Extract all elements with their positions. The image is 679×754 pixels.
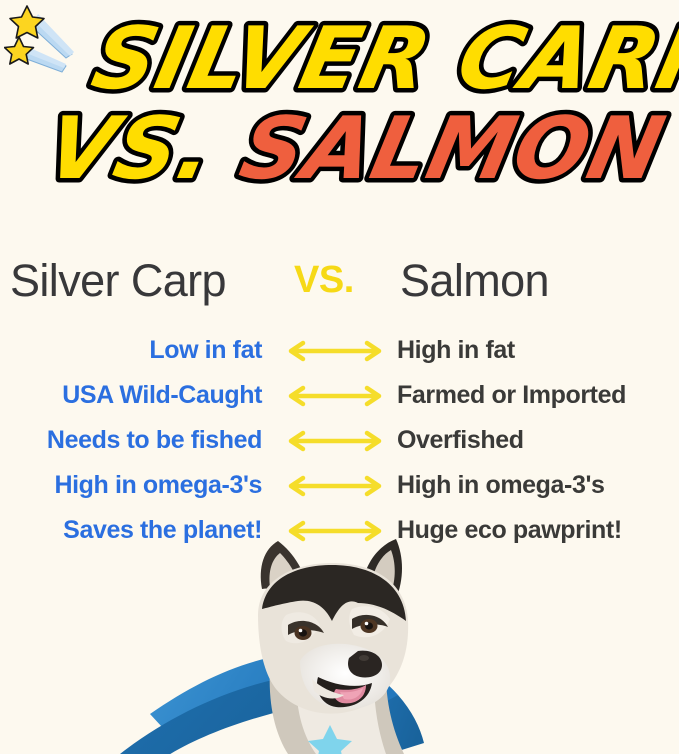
comic-title: SILVER CARP VS. SALMON [0,0,679,215]
row-right-text: High in omega-3's [397,469,605,501]
double-headed-arrow-icon [285,473,385,499]
header-right-label: Salmon [400,255,549,307]
title-salmon: SALMON [232,98,673,199]
comparison-row: USA Wild-Caught Farmed or Imported [0,379,679,413]
double-headed-arrow-art [285,428,385,454]
husky-mask [262,565,406,621]
row-left-text: USA Wild-Caught [0,379,262,411]
husky-muzzle [300,644,390,709]
husky-superhero-art [0,529,679,754]
row-right-text: High in fat [397,334,515,366]
double-headed-arrow-art [285,338,385,364]
comparison-row: Needs to be fished Overfished [0,424,679,458]
cape-badge-star-icon [308,725,352,754]
header-vs-label: VS. [294,259,354,302]
husky-eye-right [361,619,378,633]
husky-brow-left [282,612,321,643]
double-headed-arrow-icon [285,383,385,409]
title-line-2: VS. SALMON [0,96,679,206]
husky-chest [270,669,404,754]
husky-superhero-photo [0,529,679,754]
title-vs: VS. [38,98,224,199]
cape-lower-left [120,675,332,754]
row-left-text: High in omega-3's [0,469,262,501]
double-headed-arrow-art [285,473,385,499]
row-left-text: Saves the planet! [0,514,262,546]
double-headed-arrow-art [285,518,385,544]
husky-chest-highlight [296,679,386,754]
double-headed-arrow-art [285,383,385,409]
comparison-row: Saves the planet! Huge eco pawprint! [0,514,679,548]
row-right-text: Farmed or Imported [397,379,626,411]
comparison-row: Low in fat High in fat [0,334,679,368]
row-right-text: Overfished [397,424,524,456]
husky-head [258,563,408,714]
comparison-row: High in omega-3's High in omega-3's [0,469,679,503]
row-left-text: Low in fat [0,334,262,366]
header-left-label: Silver Carp [10,255,226,307]
husky-nose [348,651,382,678]
comparison-header: Silver Carp VS. Salmon [0,255,679,313]
husky-brow-right [349,606,390,637]
husky-eye-left [295,626,312,640]
husky-mouth [317,677,372,707]
title-line-2-art: VS. SALMON [0,96,679,206]
row-left-text: Needs to be fished [0,424,262,456]
title-silver-carp: SILVER CARP [84,8,679,109]
row-right-text: Huge eco pawprint! [397,514,622,546]
double-headed-arrow-icon [285,338,385,364]
double-headed-arrow-icon [285,518,385,544]
cape-right-tail [372,695,424,753]
comparison-rows: Low in fat High in fat USA Wild-Caught F… [0,334,679,559]
double-headed-arrow-icon [285,428,385,454]
cape-collar-right [300,653,398,725]
cape-upper-left [150,653,330,741]
husky-tongue [334,685,366,703]
